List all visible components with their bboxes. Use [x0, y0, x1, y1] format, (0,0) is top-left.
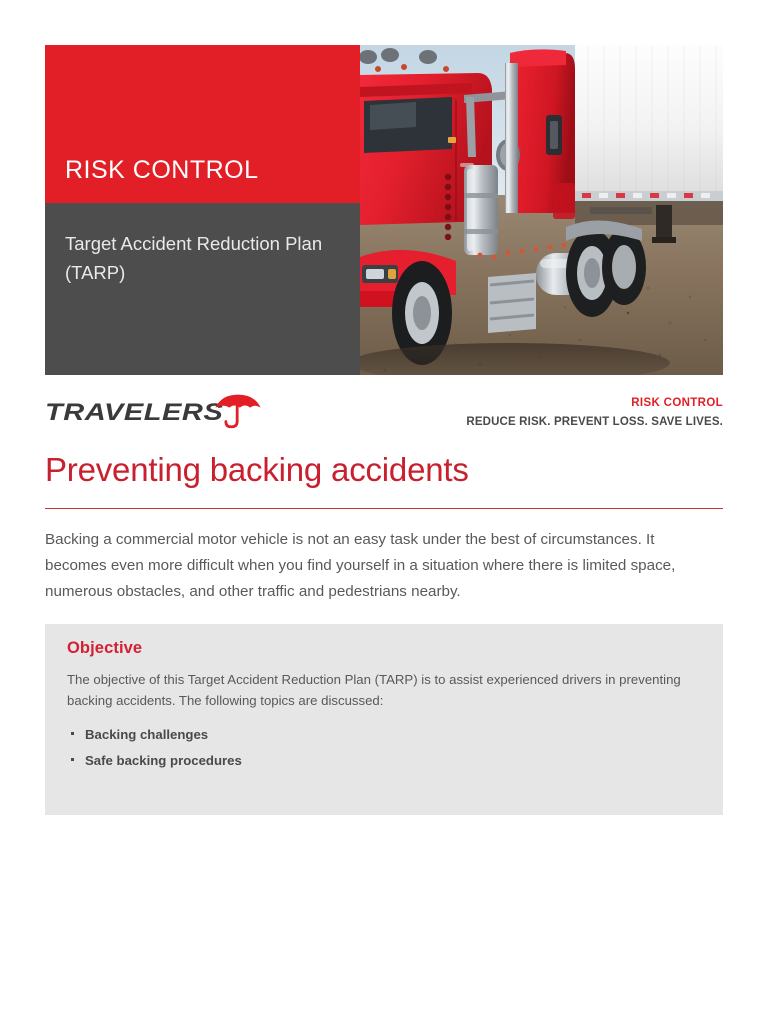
list-item: Backing challenges: [67, 725, 701, 744]
hero-red-block: RISK CONTROL: [45, 45, 360, 203]
travelers-logo: TRAVELERS: [45, 392, 306, 432]
svg-text:TRAVELERS: TRAVELERS: [45, 399, 223, 426]
list-item: Safe backing procedures: [67, 751, 701, 770]
objective-box: Objective The objective of this Target A…: [45, 624, 723, 815]
red-semi-truck-photo: [360, 45, 723, 375]
objective-body: The objective of this Target Accident Re…: [67, 669, 701, 712]
list-item-label: Backing challenges: [85, 727, 208, 742]
bullet-icon: [71, 758, 74, 761]
page-title: Preventing backing accidents: [45, 450, 723, 490]
hero-subtitle: Target Accident Reduction Plan (TARP): [65, 230, 346, 287]
brand-row: TRAVELERS RISK CONTROL REDUCE RISK. PREV…: [45, 392, 723, 438]
title-divider: [45, 508, 723, 509]
hero-banner: RISK CONTROL Target Accident Reduction P…: [45, 45, 723, 375]
bullet-icon: [71, 732, 74, 735]
hero-eyebrow: RISK CONTROL: [65, 156, 259, 185]
brand-right-text: RISK CONTROL REDUCE RISK. PREVENT LOSS. …: [466, 396, 723, 430]
objective-heading: Objective: [67, 639, 701, 658]
document-page: RISK CONTROL Target Accident Reduction P…: [0, 0, 768, 1024]
objective-topic-list: Backing challenges Safe backing procedur…: [67, 725, 701, 770]
hero-gray-block: Target Accident Reduction Plan (TARP): [45, 203, 360, 375]
risk-control-label: RISK CONTROL: [466, 396, 723, 412]
brand-tagline: REDUCE RISK. PREVENT LOSS. SAVE LIVES.: [466, 415, 723, 431]
intro-paragraph: Backing a commercial motor vehicle is no…: [45, 527, 709, 605]
list-item-label: Safe backing procedures: [85, 753, 242, 768]
hero-text-panel: RISK CONTROL Target Accident Reduction P…: [45, 45, 360, 375]
